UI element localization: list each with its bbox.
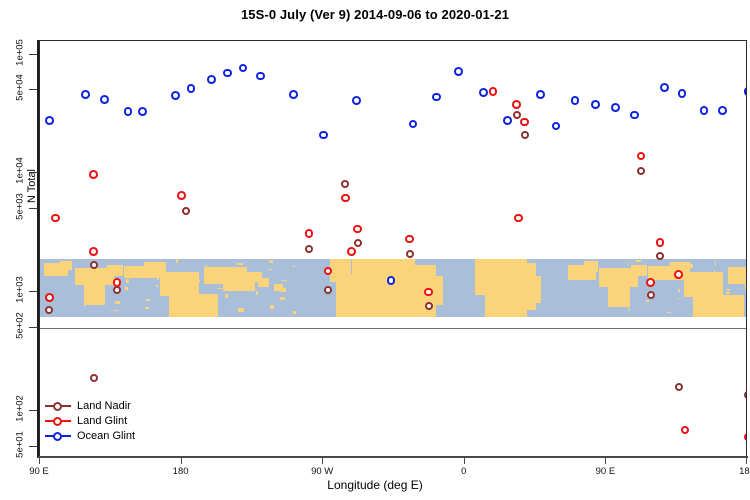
data-point [182, 207, 190, 215]
data-point [503, 116, 512, 125]
data-point [718, 106, 727, 115]
x-tick-label: 90 W [292, 466, 352, 477]
island-speck [293, 311, 296, 314]
island-speck [666, 266, 670, 270]
y-tick [29, 410, 38, 411]
island-speck [627, 272, 629, 276]
data-point [223, 69, 232, 78]
y-tick-label: 5e+03 [15, 177, 26, 237]
island-speck [628, 263, 630, 265]
island-speck [188, 282, 194, 285]
y-tick-label: 5e+04 [15, 58, 26, 118]
island-speck [146, 299, 150, 302]
island-speck [635, 269, 641, 273]
data-point [489, 87, 498, 96]
landmass-shape [529, 276, 542, 303]
island-speck [282, 280, 288, 282]
x-tick-label: 180 [717, 466, 750, 477]
island-speck [125, 287, 128, 290]
y-tick [29, 291, 38, 292]
data-point [353, 225, 362, 234]
data-point [656, 238, 665, 247]
data-point [341, 194, 350, 203]
island-speck [218, 288, 222, 290]
island-speck [677, 298, 679, 300]
data-point [630, 111, 639, 120]
legend-marker-icon [45, 414, 71, 427]
y-tick-label: 5e+02 [15, 295, 26, 355]
island-speck [127, 270, 130, 272]
x-axis-spine [38, 456, 748, 458]
landmass-shape [684, 272, 723, 297]
island-speck [280, 297, 286, 300]
island-speck [269, 260, 273, 263]
data-point [406, 250, 414, 258]
island-speck [678, 289, 680, 292]
map-strip-overlay [40, 259, 747, 317]
x-tick-label: 90 E [9, 466, 69, 477]
island-speck [726, 292, 730, 294]
island-speck [268, 269, 272, 271]
data-point [637, 152, 646, 161]
island-speck [187, 291, 193, 293]
island-speck [292, 266, 295, 268]
island-speck [636, 260, 642, 262]
data-point [552, 122, 561, 131]
data-point [319, 131, 328, 140]
data-point [324, 286, 332, 294]
data-point [700, 106, 709, 115]
legend-marker-icon [45, 429, 71, 442]
island-speck [225, 294, 228, 298]
island-speck [715, 261, 717, 265]
y-tick [29, 446, 38, 447]
landmass-shape [107, 265, 123, 277]
y-tick [29, 327, 38, 328]
y-tick-label: 5e+01 [15, 414, 26, 474]
data-point [681, 426, 690, 435]
y-tick [29, 54, 38, 55]
island-speck [176, 259, 179, 263]
island-speck [281, 288, 287, 292]
chart-legend: Land NadirLand GlintOcean Glint [45, 398, 163, 443]
island-speck [646, 300, 649, 302]
island-speck [115, 301, 121, 304]
data-point [425, 302, 433, 310]
island-speck [83, 259, 85, 261]
landmass-shape [84, 285, 105, 305]
data-point [124, 107, 133, 116]
data-point [744, 87, 747, 96]
data-point [432, 93, 441, 102]
island-speck [258, 283, 260, 285]
island-speck [702, 295, 708, 297]
island-speck [690, 264, 693, 268]
island-speck [156, 285, 158, 288]
legend-marker-icon [45, 399, 71, 412]
data-point [536, 90, 545, 99]
chart-title: 15S-0 July (Ver 9) 2014-09-06 to 2020-01… [0, 7, 750, 22]
data-point [660, 83, 669, 92]
data-point [744, 391, 747, 399]
island-speck [95, 281, 99, 285]
data-point [239, 64, 248, 73]
reference-hline [40, 328, 747, 329]
island-speck [84, 304, 86, 307]
data-point [45, 293, 54, 302]
data-point [45, 116, 54, 125]
data-point [521, 131, 529, 139]
island-speck [737, 276, 743, 278]
x-tick-label: 0 [434, 466, 494, 477]
x-tick [322, 457, 323, 464]
data-point [90, 374, 98, 382]
island-speck [703, 286, 709, 289]
data-point [354, 239, 362, 247]
landmass-shape [584, 261, 598, 271]
data-point [744, 433, 747, 442]
data-point [51, 214, 60, 223]
island-speck [196, 279, 200, 282]
island-speck [725, 301, 729, 305]
island-speck [177, 305, 180, 307]
data-point [387, 276, 396, 285]
data-point [90, 261, 98, 269]
data-point [513, 111, 521, 119]
data-point [305, 229, 314, 238]
legend-item-land-glint[interactable]: Land Glint [45, 413, 163, 428]
island-speck [713, 278, 715, 280]
data-point [89, 247, 98, 256]
data-point [646, 278, 655, 287]
island-speck [701, 303, 707, 307]
island-speck [189, 273, 195, 277]
data-point [352, 96, 361, 105]
island-speck [629, 308, 631, 311]
data-point [100, 95, 109, 104]
data-point [514, 214, 523, 223]
island-speck [238, 308, 244, 312]
legend-item-ocean-glint[interactable]: Ocean Glint [45, 428, 163, 443]
data-point [520, 118, 529, 127]
island-speck [227, 277, 230, 280]
island-speck [114, 310, 120, 312]
data-point [409, 120, 418, 129]
data-point [512, 100, 521, 109]
x-tick [181, 457, 182, 464]
data-point [479, 88, 488, 97]
x-tick [39, 457, 40, 464]
data-point [256, 72, 265, 81]
island-speck [145, 307, 149, 309]
data-point [611, 103, 620, 112]
data-point [81, 90, 90, 99]
y-tick [29, 208, 38, 209]
legend-item-land-nadir[interactable]: Land Nadir [45, 398, 163, 413]
legend-item-label: Land Nadir [71, 400, 131, 412]
data-point [177, 191, 186, 200]
island-speck [207, 310, 209, 314]
landmass-shape [258, 278, 269, 286]
island-speck [237, 263, 243, 266]
data-point [454, 67, 463, 76]
island-speck [727, 289, 730, 291]
x-tick [605, 457, 606, 464]
data-point [675, 383, 683, 391]
data-point [341, 180, 349, 188]
island-speck [689, 272, 692, 275]
y-tick [29, 89, 38, 90]
landmass-shape [60, 261, 73, 270]
data-point [207, 75, 216, 84]
island-speck [738, 267, 744, 270]
data-point [347, 247, 356, 256]
landmass-shape [745, 276, 747, 291]
island-speck [85, 295, 87, 299]
data-point [591, 100, 600, 109]
island-speck [96, 273, 100, 275]
x-tick [464, 457, 465, 464]
data-point [405, 235, 414, 244]
island-speck [665, 275, 669, 278]
y-tick [29, 172, 38, 173]
x-tick-label: 180 [151, 466, 211, 477]
data-point [289, 90, 298, 99]
island-speck [208, 302, 210, 304]
y-axis-spine [37, 40, 39, 458]
x-tick [746, 457, 747, 464]
data-point [647, 291, 655, 299]
island-speck [226, 285, 229, 287]
data-point [138, 107, 147, 116]
x-tick-label: 90 E [575, 466, 635, 477]
data-point [571, 96, 580, 105]
island-speck [144, 262, 148, 266]
chart-canvas: 15S-0 July (Ver 9) 2014-09-06 to 2020-01… [0, 0, 750, 500]
island-speck [617, 286, 621, 290]
data-point [89, 170, 98, 179]
island-speck [714, 270, 716, 273]
island-speck [270, 305, 274, 309]
data-point [678, 89, 687, 98]
island-speck [206, 265, 208, 268]
island-speck [667, 312, 671, 314]
plot-area [39, 40, 747, 457]
legend-item-label: Land Glint [71, 415, 127, 427]
data-point [637, 167, 645, 175]
island-speck [616, 294, 620, 297]
data-point [187, 84, 196, 93]
landmass-shape [352, 259, 416, 317]
legend-item-label: Ocean Glint [71, 430, 135, 442]
island-speck [157, 276, 159, 280]
data-point [171, 91, 180, 100]
island-speck [126, 279, 129, 283]
island-speck [256, 291, 258, 295]
data-point [305, 245, 313, 253]
x-axis-label: Longitude (deg E) [0, 478, 750, 492]
